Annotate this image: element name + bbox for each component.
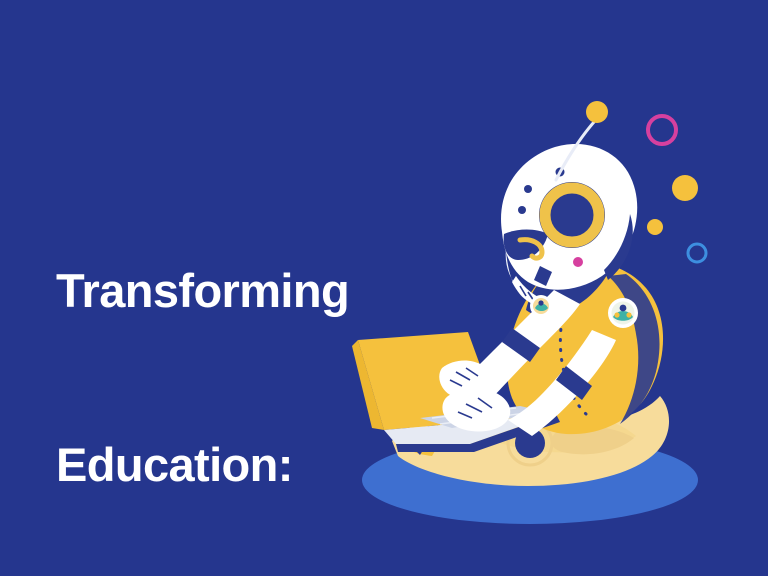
slide-canvas: Transforming Education: [0,0,768,576]
headline-line-1: Transforming [56,262,476,320]
blue-ring [688,244,706,262]
magenta-ring [648,116,676,144]
chest-emblem [608,298,638,328]
antenna-tip [586,101,608,123]
yellow-dot-small [647,219,663,235]
ear-disc [539,182,605,248]
shoulder-emblem [530,295,552,317]
headline-line-2: Education: [56,436,476,494]
pink-dot [573,257,583,267]
page-title: Transforming Education: [56,146,476,576]
yellow-dot-large [672,175,698,201]
